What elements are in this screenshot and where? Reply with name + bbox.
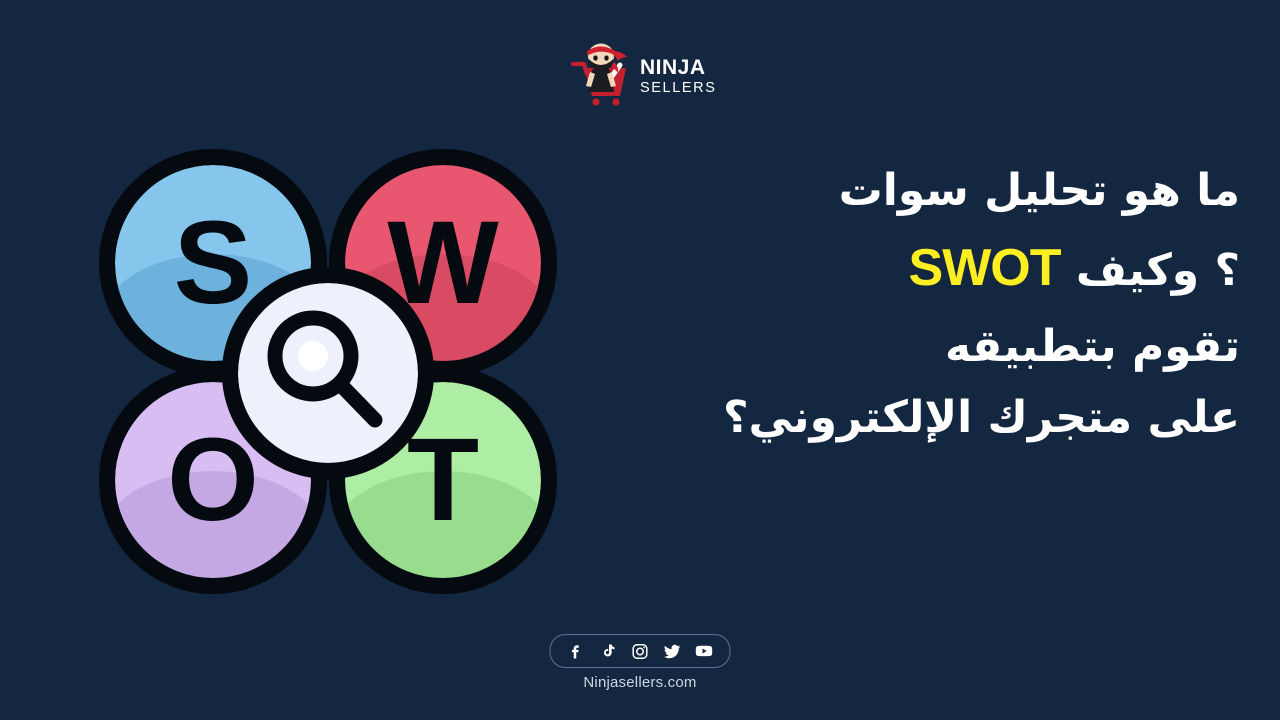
footer-website-url[interactable]: Ninjasellers.com <box>0 674 1280 691</box>
headline-line-1: ما هو تحليل سوات <box>670 155 1240 226</box>
headline-line-2-text: ؟ وكيف <box>1076 245 1240 296</box>
swot-letter-t: T <box>407 414 479 546</box>
tiktok-icon[interactable] <box>599 642 618 661</box>
swot-diagram: S W O <box>78 128 578 608</box>
headline-line-3: تقوم بتطبيقه <box>670 311 1240 382</box>
ninja-shopping-cart-icon <box>570 40 632 108</box>
headline-line-2: ؟ وكيف SWOT <box>670 226 1240 310</box>
slide-canvas: NINJA SELLERS S <box>0 0 1280 720</box>
brand-logo: NINJA SELLERS <box>570 38 710 110</box>
swot-letter-s: S <box>174 197 253 329</box>
brand-name-line1: NINJA <box>640 57 717 78</box>
headline-line-4: على متجرك الإلكتروني؟ <box>670 382 1240 453</box>
headline-keyword-swot: SWOT <box>909 239 1061 297</box>
youtube-icon[interactable] <box>695 642 714 661</box>
magnifying-glass-icon <box>230 275 426 471</box>
social-links-bar <box>550 634 731 668</box>
twitter-icon[interactable] <box>663 642 682 661</box>
instagram-icon[interactable] <box>631 642 650 661</box>
facebook-icon[interactable] <box>567 642 586 661</box>
brand-wordmark: NINJA SELLERS <box>640 53 717 96</box>
page-title: ما هو تحليل سوات ؟ وكيف SWOT تقوم بتطبيق… <box>670 155 1240 453</box>
brand-name-line2: SELLERS <box>640 81 717 96</box>
